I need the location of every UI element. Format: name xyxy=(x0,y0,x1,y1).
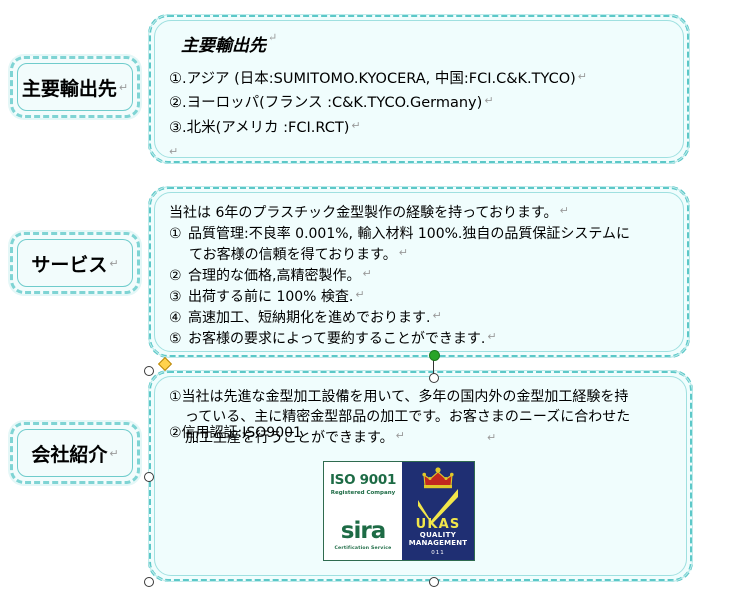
service-item-text: 合理的な価格,高精密製作。 xyxy=(188,268,360,284)
pilcrow-mark: ↵ xyxy=(487,330,496,343)
pilcrow-mark: ↵ xyxy=(109,447,118,460)
pilcrow-mark: ↵ xyxy=(399,246,408,259)
list-item: ③.北米(アメリカ :FCI.RCT)↵ xyxy=(169,117,673,139)
service-item: ④高速加工、短納期化を進めでおります.↵ xyxy=(169,308,673,329)
ukas-management-text: MANAGEMENT xyxy=(409,539,468,548)
heading-export-destinations: 主要輸出先↵ xyxy=(181,31,673,56)
iso-subtitle-text: Registered Company xyxy=(331,490,395,496)
pilcrow-mark: ↵ xyxy=(351,119,360,132)
service-item-text: お客様の要求によって要約することができます. xyxy=(188,331,485,347)
pilcrow-mark: ↵ xyxy=(560,204,569,217)
checkmark-icon xyxy=(415,488,461,524)
content-body-export: 主要輸出先↵ ①.アジア (日本:SUMITOMO.KYOCERA, 中国:FC… xyxy=(151,17,687,151)
service-item: ③出荷する前に 100% 検査.↵ xyxy=(169,287,673,308)
content-body-service: 当社は 6年のプラスチック金型製作の経験を持っております。↵ ①品質管理:不良率… xyxy=(151,189,687,360)
sira-wordmark: sira xyxy=(341,518,385,544)
pilcrow-mark: ↵ xyxy=(355,288,364,301)
sira-subtitle-text: Certification Service xyxy=(334,546,391,551)
iso-title-text: ISO 9001 xyxy=(330,472,396,488)
resize-handle-bottom-left[interactable] xyxy=(144,577,154,587)
pilcrow-mark: ↵ xyxy=(487,431,496,444)
label-box-export-destinations[interactable]: 主要輸出先 ↵ xyxy=(10,56,140,118)
label-text-export-destinations: 主要輸出先 xyxy=(22,74,117,101)
company-paragraph-line-1: ①当社は先進な金型加工設備を用いて、多年の国内外の金型加工経験を持 xyxy=(169,389,628,405)
label-box-company-intro[interactable]: 会社紹介 ↵ xyxy=(10,422,140,484)
resize-handle-middle-left[interactable] xyxy=(144,472,154,482)
iso-9001-ukas-logo: ISO 9001 Registered Company sira Certifi… xyxy=(323,461,475,561)
content-body-company: ①当社は先進な金型加工設備を用いて、多年の国内外の金型加工経験を持 っている、主… xyxy=(151,373,690,458)
service-intro: 当社は 6年のプラスチック金型製作の経験を持っております。↵ xyxy=(169,203,673,224)
service-item-number: ② xyxy=(169,266,188,287)
pilcrow-mark: ↵ xyxy=(169,145,178,158)
service-item-continuation: てお客様の信頼を得ております。↵ xyxy=(169,245,673,266)
pilcrow-mark: ↵ xyxy=(109,257,118,270)
list-item: ②.ヨーロッパ(フランス :C&K.TYCO.Germany)↵ xyxy=(169,92,673,114)
pilcrow-mark: ↵ xyxy=(484,94,493,107)
pilcrow-mark: ↵ xyxy=(119,81,128,94)
service-item-number: ⑤ xyxy=(169,329,188,350)
resize-handle-top-center[interactable] xyxy=(429,373,439,383)
service-item-text: 品質管理:不良率 0.001%, 輸入材料 100%.独自の品質保証システムに xyxy=(188,226,630,242)
pilcrow-mark: ↵ xyxy=(362,267,371,280)
service-item-number: ③ xyxy=(169,287,188,308)
label-box-service[interactable]: サービス ↵ xyxy=(10,232,140,294)
iso-logo-left-panel: ISO 9001 Registered Company sira Certifi… xyxy=(324,462,402,560)
service-item: ①品質管理:不良率 0.001%, 輸入材料 100%.独自の品質保証システムに xyxy=(169,224,673,245)
rotation-handle[interactable] xyxy=(429,350,440,361)
content-box-export-destinations[interactable]: 主要輸出先↵ ①.アジア (日本:SUMITOMO.KYOCERA, 中国:FC… xyxy=(148,14,690,164)
pilcrow-mark: ↵ xyxy=(396,429,405,442)
label-text-service: サービス xyxy=(31,250,107,277)
service-item: ②合理的な価格,高精密製作。↵ xyxy=(169,266,673,287)
document-page: 主要輸出先 ↵ 主要輸出先↵ ①.アジア (日本:SUMITOMO.KYOCER… xyxy=(0,0,734,595)
resize-handle-top-left[interactable] xyxy=(144,366,154,376)
service-item-text: 高速加工、短納期化を進めでおります. xyxy=(188,310,430,326)
content-box-company-intro[interactable]: ①当社は先進な金型加工設備を用いて、多年の国内外の金型加工経験を持 っている、主… xyxy=(148,370,693,582)
ukas-quality-text: QUALITY xyxy=(420,531,457,540)
service-item-number: ① xyxy=(169,224,188,245)
pilcrow-mark: ↵ xyxy=(268,31,277,44)
service-item: ⑤お客様の要求によって要約することができます.↵ xyxy=(169,329,673,350)
service-item-number: ④ xyxy=(169,308,188,329)
ukas-accreditation-number: 011 xyxy=(431,550,445,556)
resize-handle-bottom-center[interactable] xyxy=(429,577,439,587)
ukas-logo-panel: UKAS QUALITY MANAGEMENT 011 xyxy=(402,462,474,560)
label-text-company-intro: 会社紹介 xyxy=(31,440,107,467)
list-item: ①.アジア (日本:SUMITOMO.KYOCERA, 中国:FCI.C&K.T… xyxy=(169,68,673,90)
pilcrow-mark: ↵ xyxy=(432,309,441,322)
crown-icon xyxy=(421,467,455,489)
service-item-text: 出荷する前に 100% 検査. xyxy=(188,289,353,305)
pilcrow-mark: ↵ xyxy=(578,70,587,83)
company-certification-line: ②信用認証:ISO9001 xyxy=(169,422,302,442)
content-box-service[interactable]: 当社は 6年のプラスチック金型製作の経験を持っております。↵ ①品質管理:不良率… xyxy=(148,186,690,358)
